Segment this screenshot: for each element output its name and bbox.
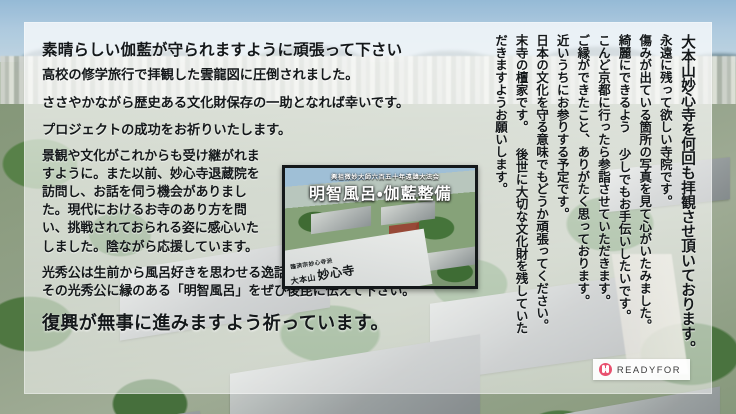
vertical-column-5: こんど京都に行ったら参詣させていただきます。	[593, 34, 614, 380]
vertical-column-7: 近いうちにお参りする予定です。	[552, 34, 573, 380]
card-temple-roof	[311, 206, 371, 234]
vertical-column-2: 永遠に残って欲しい寺院です。	[655, 34, 676, 380]
readyfor-mark-icon	[599, 363, 612, 376]
card-header-large: 明智風呂・伽藍整備	[309, 180, 475, 204]
readyfor-wordmark: READYFOR	[617, 364, 681, 375]
message-closing: 復興が無事に進みますよう祈っています。	[42, 309, 474, 335]
vertical-column-10: だきますようお願いします。	[490, 34, 511, 380]
message-line-3: プロジェクトの成功をお祈りいたします。	[42, 121, 474, 140]
card-temple-roof	[381, 201, 435, 226]
message-title: 素晴らしい伽藍が守られますように頑張って下さい	[42, 40, 474, 59]
screenshot-stage: 素晴らしい伽藍が守られますように頑張って下さい 高校の修学旅行で拝観した雲龍図に…	[0, 0, 736, 414]
vertical-column-6: ご縁ができたこと、ありがたく思っております。	[572, 34, 593, 380]
vertical-column-4: 綺麗にできるよう 少しでもお手伝いしたいです。	[613, 34, 634, 380]
vertical-column-9: 末寺の檀家です。 後世に大切な文化財を残していた	[510, 34, 531, 380]
message-line-2: ささやかながら歴史ある文化財保存の一助となれば幸いです。	[42, 94, 474, 113]
message-panel: 素晴らしい伽藍が守られますように頑張って下さい 高校の修学旅行で拝観した雲龍図に…	[24, 22, 712, 394]
project-photo-card[interactable]: 興祖微妙大師六百五十年遠諱大法会 明智風呂・伽藍整備 臨済宗妙心寺派 大本山 妙…	[282, 165, 478, 289]
vertical-column-1: 大本山妙心寺を何回も拝観させ頂いております。	[675, 34, 698, 380]
message-line-1: 高校の修学旅行で拝観した雲龍図に圧倒されました。	[42, 66, 474, 85]
readyfor-badge[interactable]: READYFOR	[593, 359, 690, 380]
card-temple-roof	[425, 246, 475, 271]
vertical-column-8: 日本の文化を守る意味でもどうか頑張ってください。	[531, 34, 552, 380]
message-paragraph: 景観や文化がこれからも受け継がれますように。また以前、妙心寺退蔵院を訪問し、お話…	[42, 148, 264, 257]
vertical-message-columns: だきますようお願いします。 末寺の檀家です。 後世に大切な文化財を残していた 日…	[490, 34, 698, 380]
vertical-column-3: 傷みが出ている箇所の写真を見て心がいたみました。	[634, 34, 655, 380]
